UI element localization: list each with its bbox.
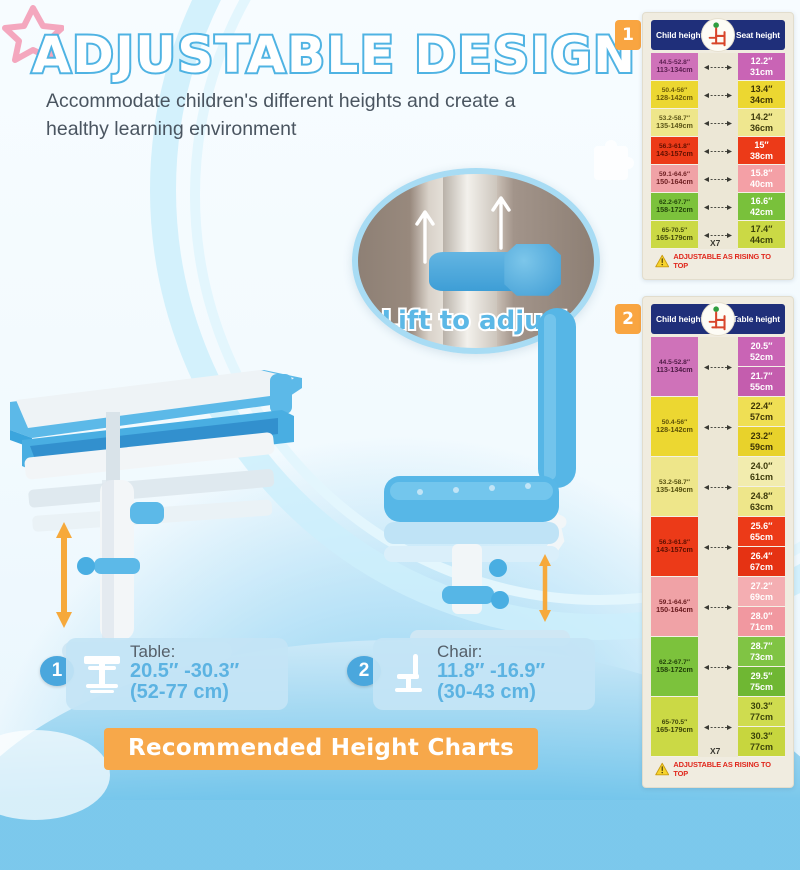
chart-multiplier: X7 [710, 746, 720, 756]
chart-col-child-height: Child height [656, 314, 703, 324]
chart-value-cell: 21.7″55cm [738, 367, 785, 397]
chart-value-cell: 24.0″61cm [738, 457, 785, 487]
chart-value-cell: 25.6″65cm [738, 517, 785, 547]
chart-column-links: X7 [698, 337, 738, 757]
chart-header: Child heightSeat height [651, 20, 785, 50]
height-range-arrow-icon [55, 520, 73, 630]
value-inches: 26.4″ [751, 551, 773, 561]
chart-link-cell [698, 53, 738, 81]
value-cm: 67cm [750, 562, 773, 572]
child-height-cm: 158-172cm [656, 206, 693, 214]
chart-link-cell [698, 517, 738, 577]
range-link-arrow-icon [703, 148, 733, 155]
caption-table: Table: 20.5″ -30.3″ (52-77 cm) [66, 638, 288, 710]
chart-value-cell: 16.6″42cm [738, 193, 785, 221]
chart-column-values: 12.2″31cm13.4″34cm14.2″36cm15″38cm15.8″4… [738, 53, 785, 249]
chart-value-cell: 22.4″57cm [738, 397, 785, 427]
value-inches: 16.6″ [751, 196, 773, 206]
range-link-arrow-icon [703, 364, 733, 371]
chart-value-cell: 20.5″52cm [738, 337, 785, 367]
child-height-cm: 113-134cm [656, 366, 692, 374]
range-link-arrow-icon [703, 424, 733, 431]
chart-body: 44.5-52.8″113-134cm50.4-56″128-142cm53.2… [651, 53, 785, 249]
range-link-arrow-icon [703, 604, 733, 611]
value-inches: 21.7″ [751, 371, 773, 381]
value-inches: 17.4″ [751, 224, 773, 234]
table-height-chart: Child heightTable height44.5-52.8″113-13… [642, 296, 794, 788]
chart-figure [701, 302, 735, 336]
value-cm: 36cm [750, 123, 773, 133]
value-cm: 63cm [750, 502, 773, 512]
chart-value-cell: 28.7″73cm [738, 637, 785, 667]
chart-header: Child heightTable height [651, 304, 785, 334]
chart-link-cell [698, 337, 738, 397]
chart-value-cell: 24.8″63cm [738, 487, 785, 517]
value-inches: 30.3″ [751, 701, 773, 711]
value-cm: 69cm [750, 592, 773, 602]
child-height-cm: 135-149cm [656, 486, 693, 494]
seat-height-chart: Child heightSeat height44.5-52.8″113-134… [642, 12, 794, 280]
value-cm: 73cm [750, 652, 773, 662]
chart-child-height-cell: 59.1-64.6″150-164cm [651, 577, 698, 637]
child-height-cm: 128-142cm [656, 94, 693, 102]
value-cm: 38cm [750, 151, 773, 161]
warning-triangle-icon [655, 762, 669, 776]
range-link-arrow-icon [703, 120, 733, 127]
chart-figure [701, 18, 735, 52]
chart-value-cell: 30.3″77cm [738, 697, 785, 727]
value-cm: 71cm [750, 622, 773, 632]
caption-chair: Chair: 11.8″ -16.9″ (30-43 cm) [373, 638, 595, 710]
chart-value-cell: 28.0″71cm [738, 607, 785, 637]
chart-value-cell: 27.2″69cm [738, 577, 785, 607]
up-arrow-icon [490, 192, 512, 250]
chart-col-child-height: Child height [656, 30, 703, 40]
chart-badge-1: 1 [615, 20, 641, 50]
child-height-cm: 165-179cm [656, 726, 693, 734]
chart-child-height-cell: 65-70.5″165-179cm [651, 221, 698, 249]
range-link-arrow-icon [703, 176, 733, 183]
child-height-cm: 135-149cm [656, 122, 693, 130]
puzzle-piece-icon [588, 136, 634, 182]
adjustment-knob-icon [504, 244, 561, 296]
seated-child-icon [704, 21, 732, 49]
chart-value-cell: 15″38cm [738, 137, 785, 165]
value-inches: 28.0″ [751, 611, 773, 621]
chart-value-cell: 13.4″34cm [738, 81, 785, 109]
chart-child-height-cell: 50.4-56″128-142cm [651, 397, 698, 457]
child-height-cm: 165-179cm [656, 234, 693, 242]
value-cm: 40cm [750, 179, 773, 189]
value-inches: 20.5″ [751, 341, 773, 351]
chart-value-cell: 30.3″77cm [738, 727, 785, 757]
chart-column-child-height: 44.5-52.8″113-134cm50.4-56″128-142cm53.2… [651, 53, 698, 249]
value-cm: 77cm [750, 742, 773, 752]
value-cm: 61cm [750, 472, 773, 482]
chart-child-height-cell: 56.3-61.8″143-157cm [651, 137, 698, 165]
child-height-cm: 143-157cm [656, 546, 693, 554]
chart-child-height-cell: 62.2-67.7″158-172cm [651, 193, 698, 221]
value-cm: 55cm [750, 382, 773, 392]
chart-body: 44.5-52.8″113-134cm50.4-56″128-142cm53.2… [651, 337, 785, 757]
range-link-arrow-icon [703, 544, 733, 551]
chart-child-height-cell: 65-70.5″165-179cm [651, 697, 698, 757]
chart-link-cell [698, 137, 738, 165]
page-title: ADJUSTABLE DESIGN [32, 26, 637, 84]
chart-child-height-cell: 59.1-64.6″150-164cm [651, 165, 698, 193]
caption-table-cm: (52-77 cm) [130, 682, 239, 703]
child-height-cm: 128-142cm [656, 426, 693, 434]
chart-child-height-cell: 44.5-52.8″113-134cm [651, 337, 698, 397]
chart-value-cell: 17.4″44cm [738, 221, 785, 249]
chart-value-cell: 26.4″67cm [738, 547, 785, 577]
child-height-cm: 150-164cm [656, 178, 693, 186]
chart-child-height-cell: 56.3-61.8″143-157cm [651, 517, 698, 577]
chart-link-cell [698, 193, 738, 221]
chart-col-value-height: Table height [733, 314, 781, 324]
chart-value-cell: 23.2″59cm [738, 427, 785, 457]
value-inches: 15.8″ [751, 168, 773, 178]
range-link-arrow-icon [703, 204, 733, 211]
caption-chair-cm: (30-43 cm) [437, 682, 545, 703]
chair-illustration [370, 300, 620, 650]
value-cm: 34cm [750, 95, 773, 105]
chart-link-cell [698, 397, 738, 457]
child-height-cm: 143-157cm [656, 150, 693, 158]
value-cm: 77cm [750, 712, 773, 722]
caption-table-inches: 20.5″ -30.3″ [130, 661, 239, 682]
page-subtitle: Accommodate children's different heights… [46, 88, 516, 143]
chart-link-cell [698, 165, 738, 193]
chart-link-cell [698, 577, 738, 637]
chart-link-cell [698, 109, 738, 137]
chart-child-height-cell: 53.2-58.7″135-149cm [651, 457, 698, 517]
recommended-height-charts-banner: Recommended Height Charts [104, 728, 538, 770]
chart-badge-2: 2 [615, 304, 641, 334]
desk-illustration [2, 330, 322, 660]
value-cm: 75cm [750, 682, 773, 692]
warning-triangle-icon [655, 254, 669, 268]
chart-value-cell: 29.5″75cm [738, 667, 785, 697]
chart-footer-note: ADJUSTABLE AS RISING TO TOP [673, 760, 783, 778]
up-arrow-icon [414, 206, 436, 264]
value-inches: 24.0″ [751, 461, 773, 471]
caption-chair-inches: 11.8″ -16.9″ [437, 661, 545, 682]
chart-value-cell: 14.2″36cm [738, 109, 785, 137]
range-link-arrow-icon [703, 92, 733, 99]
value-inches: 25.6″ [751, 521, 773, 531]
child-height-cm: 150-164cm [656, 606, 693, 614]
value-inches: 29.5″ [751, 671, 773, 681]
chart-value-cell: 12.2″31cm [738, 53, 785, 81]
child-height-cm: 158-172cm [656, 666, 693, 674]
desk-icon [82, 650, 122, 696]
chart-column-values: 20.5″52cm21.7″55cm22.4″57cm23.2″59cm24.0… [738, 337, 785, 757]
chart-child-height-cell: 50.4-56″128-142cm [651, 81, 698, 109]
chart-footer: ADJUSTABLE AS RISING TO TOP [651, 249, 785, 270]
chart-child-height-cell: 53.2-58.7″135-149cm [651, 109, 698, 137]
value-inches: 14.2″ [751, 112, 773, 122]
value-cm: 65cm [750, 532, 773, 542]
range-link-arrow-icon [703, 664, 733, 671]
caption-table-title: Table: [130, 643, 239, 661]
chart-link-cell [698, 457, 738, 517]
value-inches: 12.2″ [751, 56, 773, 66]
chart-link-cell [698, 81, 738, 109]
chart-child-height-cell: 62.2-67.7″158-172cm [651, 637, 698, 697]
range-link-arrow-icon [703, 484, 733, 491]
value-cm: 52cm [750, 352, 773, 362]
value-cm: 31cm [750, 67, 773, 77]
value-inches: 24.8″ [751, 491, 773, 501]
value-inches: 15″ [754, 140, 768, 150]
chart-child-height-cell: 44.5-52.8″113-134cm [651, 53, 698, 81]
chart-value-cell: 15.8″40cm [738, 165, 785, 193]
chart-col-value-height: Seat height [736, 30, 780, 40]
value-cm: 44cm [750, 235, 773, 245]
value-inches: 28.7″ [751, 641, 773, 651]
range-link-arrow-icon [703, 724, 733, 731]
value-cm: 59cm [750, 442, 773, 452]
value-cm: 42cm [750, 207, 773, 217]
child-height-cm: 113-134cm [656, 66, 692, 74]
chart-multiplier: X7 [710, 238, 720, 248]
range-link-arrow-icon [703, 64, 733, 71]
chart-column-child-height: 44.5-52.8″113-134cm50.4-56″128-142cm53.2… [651, 337, 698, 757]
value-inches: 30.3″ [751, 731, 773, 741]
value-inches: 27.2″ [751, 581, 773, 591]
value-inches: 22.4″ [751, 401, 773, 411]
caption-chair-title: Chair: [437, 643, 545, 661]
chart-footer: ADJUSTABLE AS RISING TO TOP [651, 757, 785, 778]
value-inches: 13.4″ [751, 84, 773, 94]
value-inches: 23.2″ [751, 431, 773, 441]
chart-column-links: X7 [698, 53, 738, 249]
chair-icon [389, 650, 429, 696]
height-range-arrow-icon [538, 552, 552, 624]
chart-footer-note: ADJUSTABLE AS RISING TO TOP [673, 252, 783, 270]
seated-child-icon [704, 305, 732, 333]
value-cm: 57cm [750, 412, 773, 422]
chart-link-cell [698, 637, 738, 697]
